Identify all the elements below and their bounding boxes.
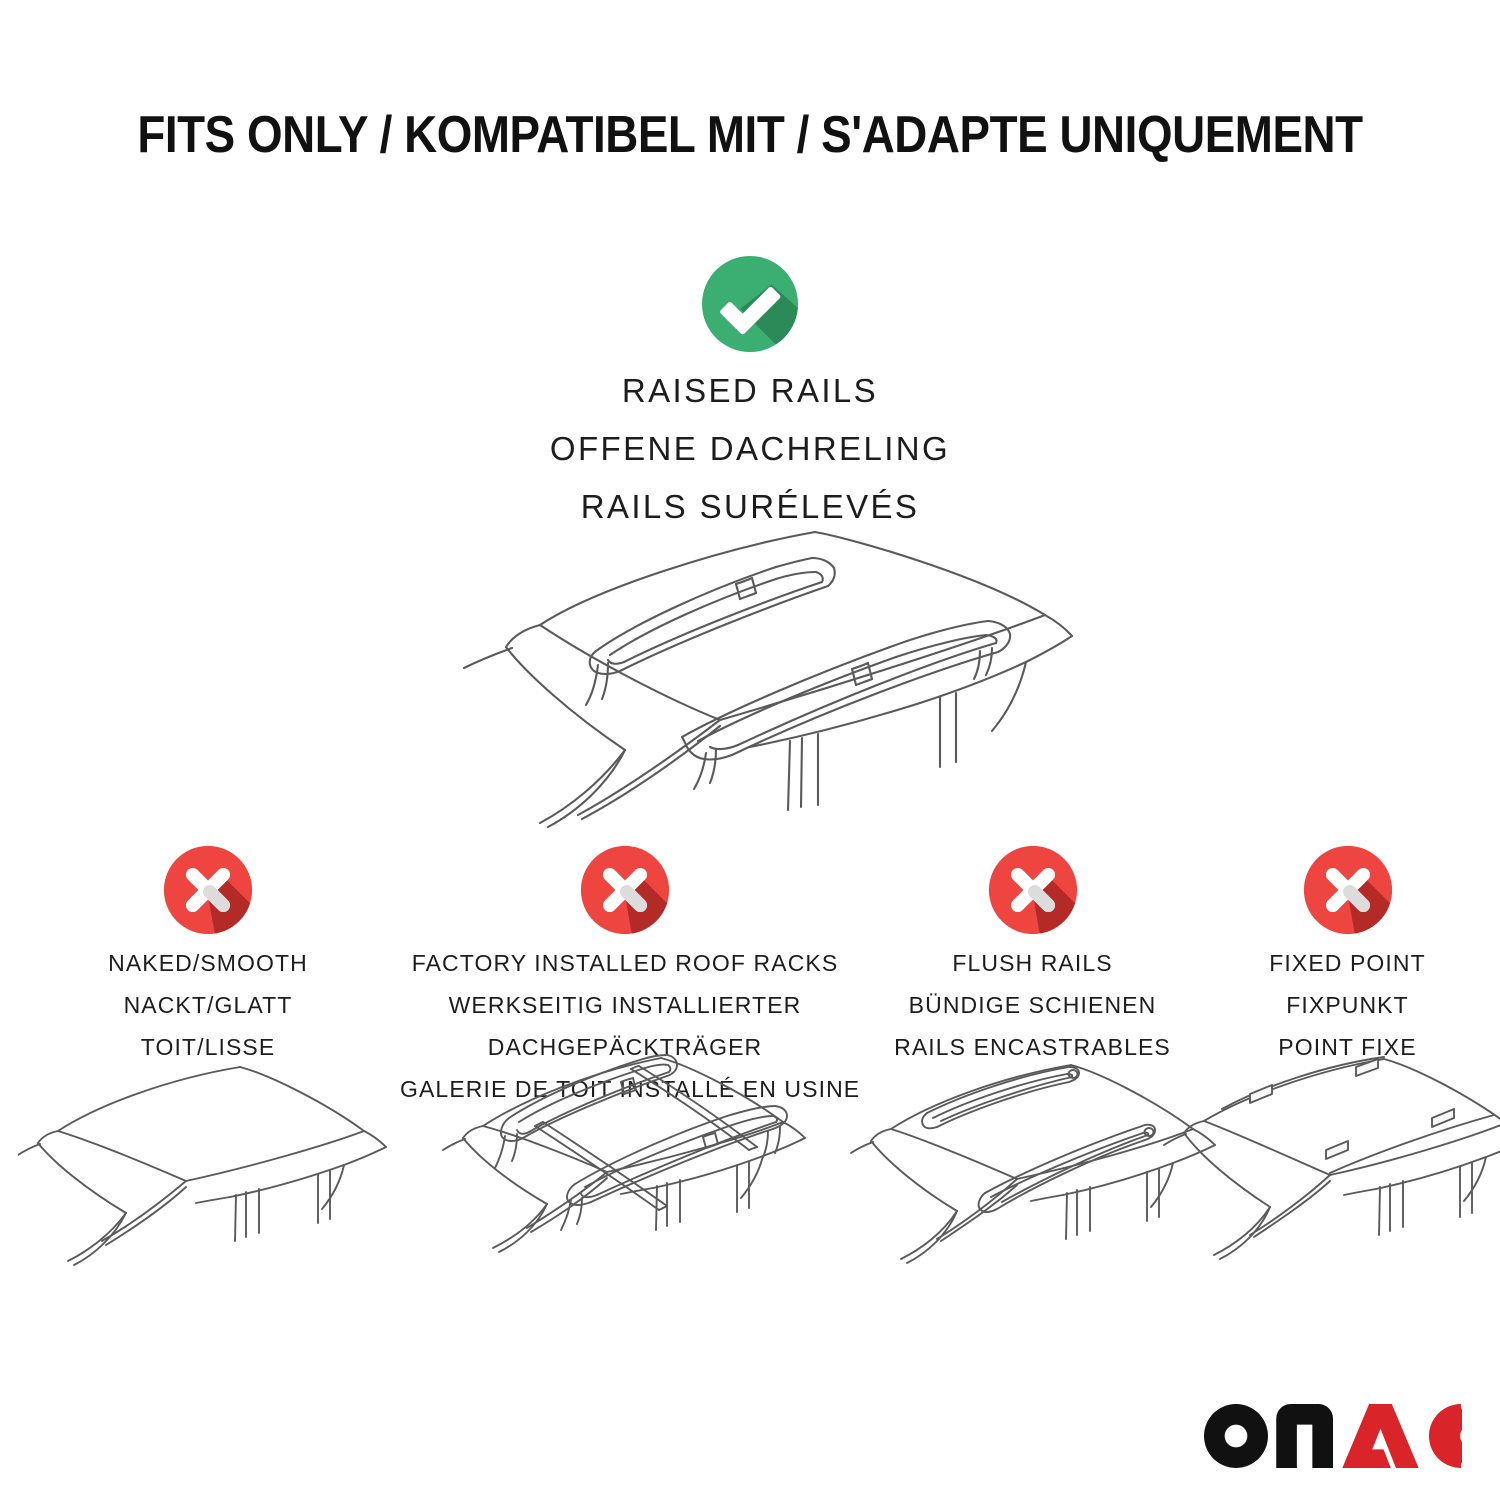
illustration-naked-smooth	[18, 1045, 398, 1295]
incompatible-label-0-0: NAKED/SMOOTH	[33, 949, 383, 977]
illustration-raised-rails	[420, 505, 1090, 835]
compatible-section: RAISED RAILS OFFENE DACHRELING RAILS SUR…	[330, 255, 1170, 527]
check-circle-icon	[701, 255, 799, 353]
cross-circle-icon	[163, 845, 253, 935]
incompatible-label-1-0: FACTORY INSTALLED ROOF RACKS	[400, 949, 850, 977]
car-roof-fixed-point-drawing	[1158, 1045, 1500, 1295]
car-roof-raised-rails-drawing	[420, 505, 1090, 835]
incompatible-label-0-1: NACKT/GLATT	[33, 991, 383, 1019]
incompatible-label-3-0: FIXED POINT	[1215, 949, 1480, 977]
cross-circle-icon	[580, 845, 670, 935]
cross-circle-icon	[1303, 845, 1393, 935]
compatible-label-de: OFFENE DACHRELING	[330, 429, 1170, 469]
omac-letter-o	[1204, 1404, 1268, 1468]
omac-letter-a	[1342, 1404, 1418, 1468]
incompatible-label-1-1: WERKSEITIG INSTALLIERTER	[400, 991, 850, 1019]
illustration-fixed-point	[1158, 1045, 1500, 1295]
car-roof-factory-roof-racks-drawing	[435, 1030, 815, 1280]
compatible-label-en: RAISED RAILS	[330, 371, 1170, 411]
page-title: FITS ONLY / KOMPATIBEL MIT / S'ADAPTE UN…	[90, 104, 1410, 166]
incompatible-item-flush-rails: FLUSH RAILS BÜNDIGE SCHIENEN RAILS ENCAS…	[855, 845, 1210, 1061]
incompatible-item-fixed-point: FIXED POINT FIXPUNKT POINT FIXE	[1215, 845, 1480, 1061]
incompatible-sections: NAKED/SMOOTH NACKT/GLATT TOIT/LISSE	[0, 845, 1500, 1365]
illustration-factory-roof-racks	[435, 1030, 815, 1280]
incompatible-label-3-1: FIXPUNKT	[1215, 991, 1480, 1019]
omac-letter-m	[1276, 1404, 1333, 1468]
incompatible-label-2-1: BÜNDIGE SCHIENEN	[855, 991, 1210, 1019]
incompatible-label-2-0: FLUSH RAILS	[855, 949, 1210, 977]
incompatible-item-factory-roof-racks: FACTORY INSTALLED ROOF RACKS WERKSEITIG …	[400, 845, 850, 1103]
car-roof-naked-smooth-drawing	[18, 1045, 398, 1295]
cross-circle-icon	[988, 845, 1078, 935]
omac-logo	[1204, 1404, 1462, 1468]
incompatible-item-naked-smooth: NAKED/SMOOTH NACKT/GLATT TOIT/LISSE	[33, 845, 383, 1061]
